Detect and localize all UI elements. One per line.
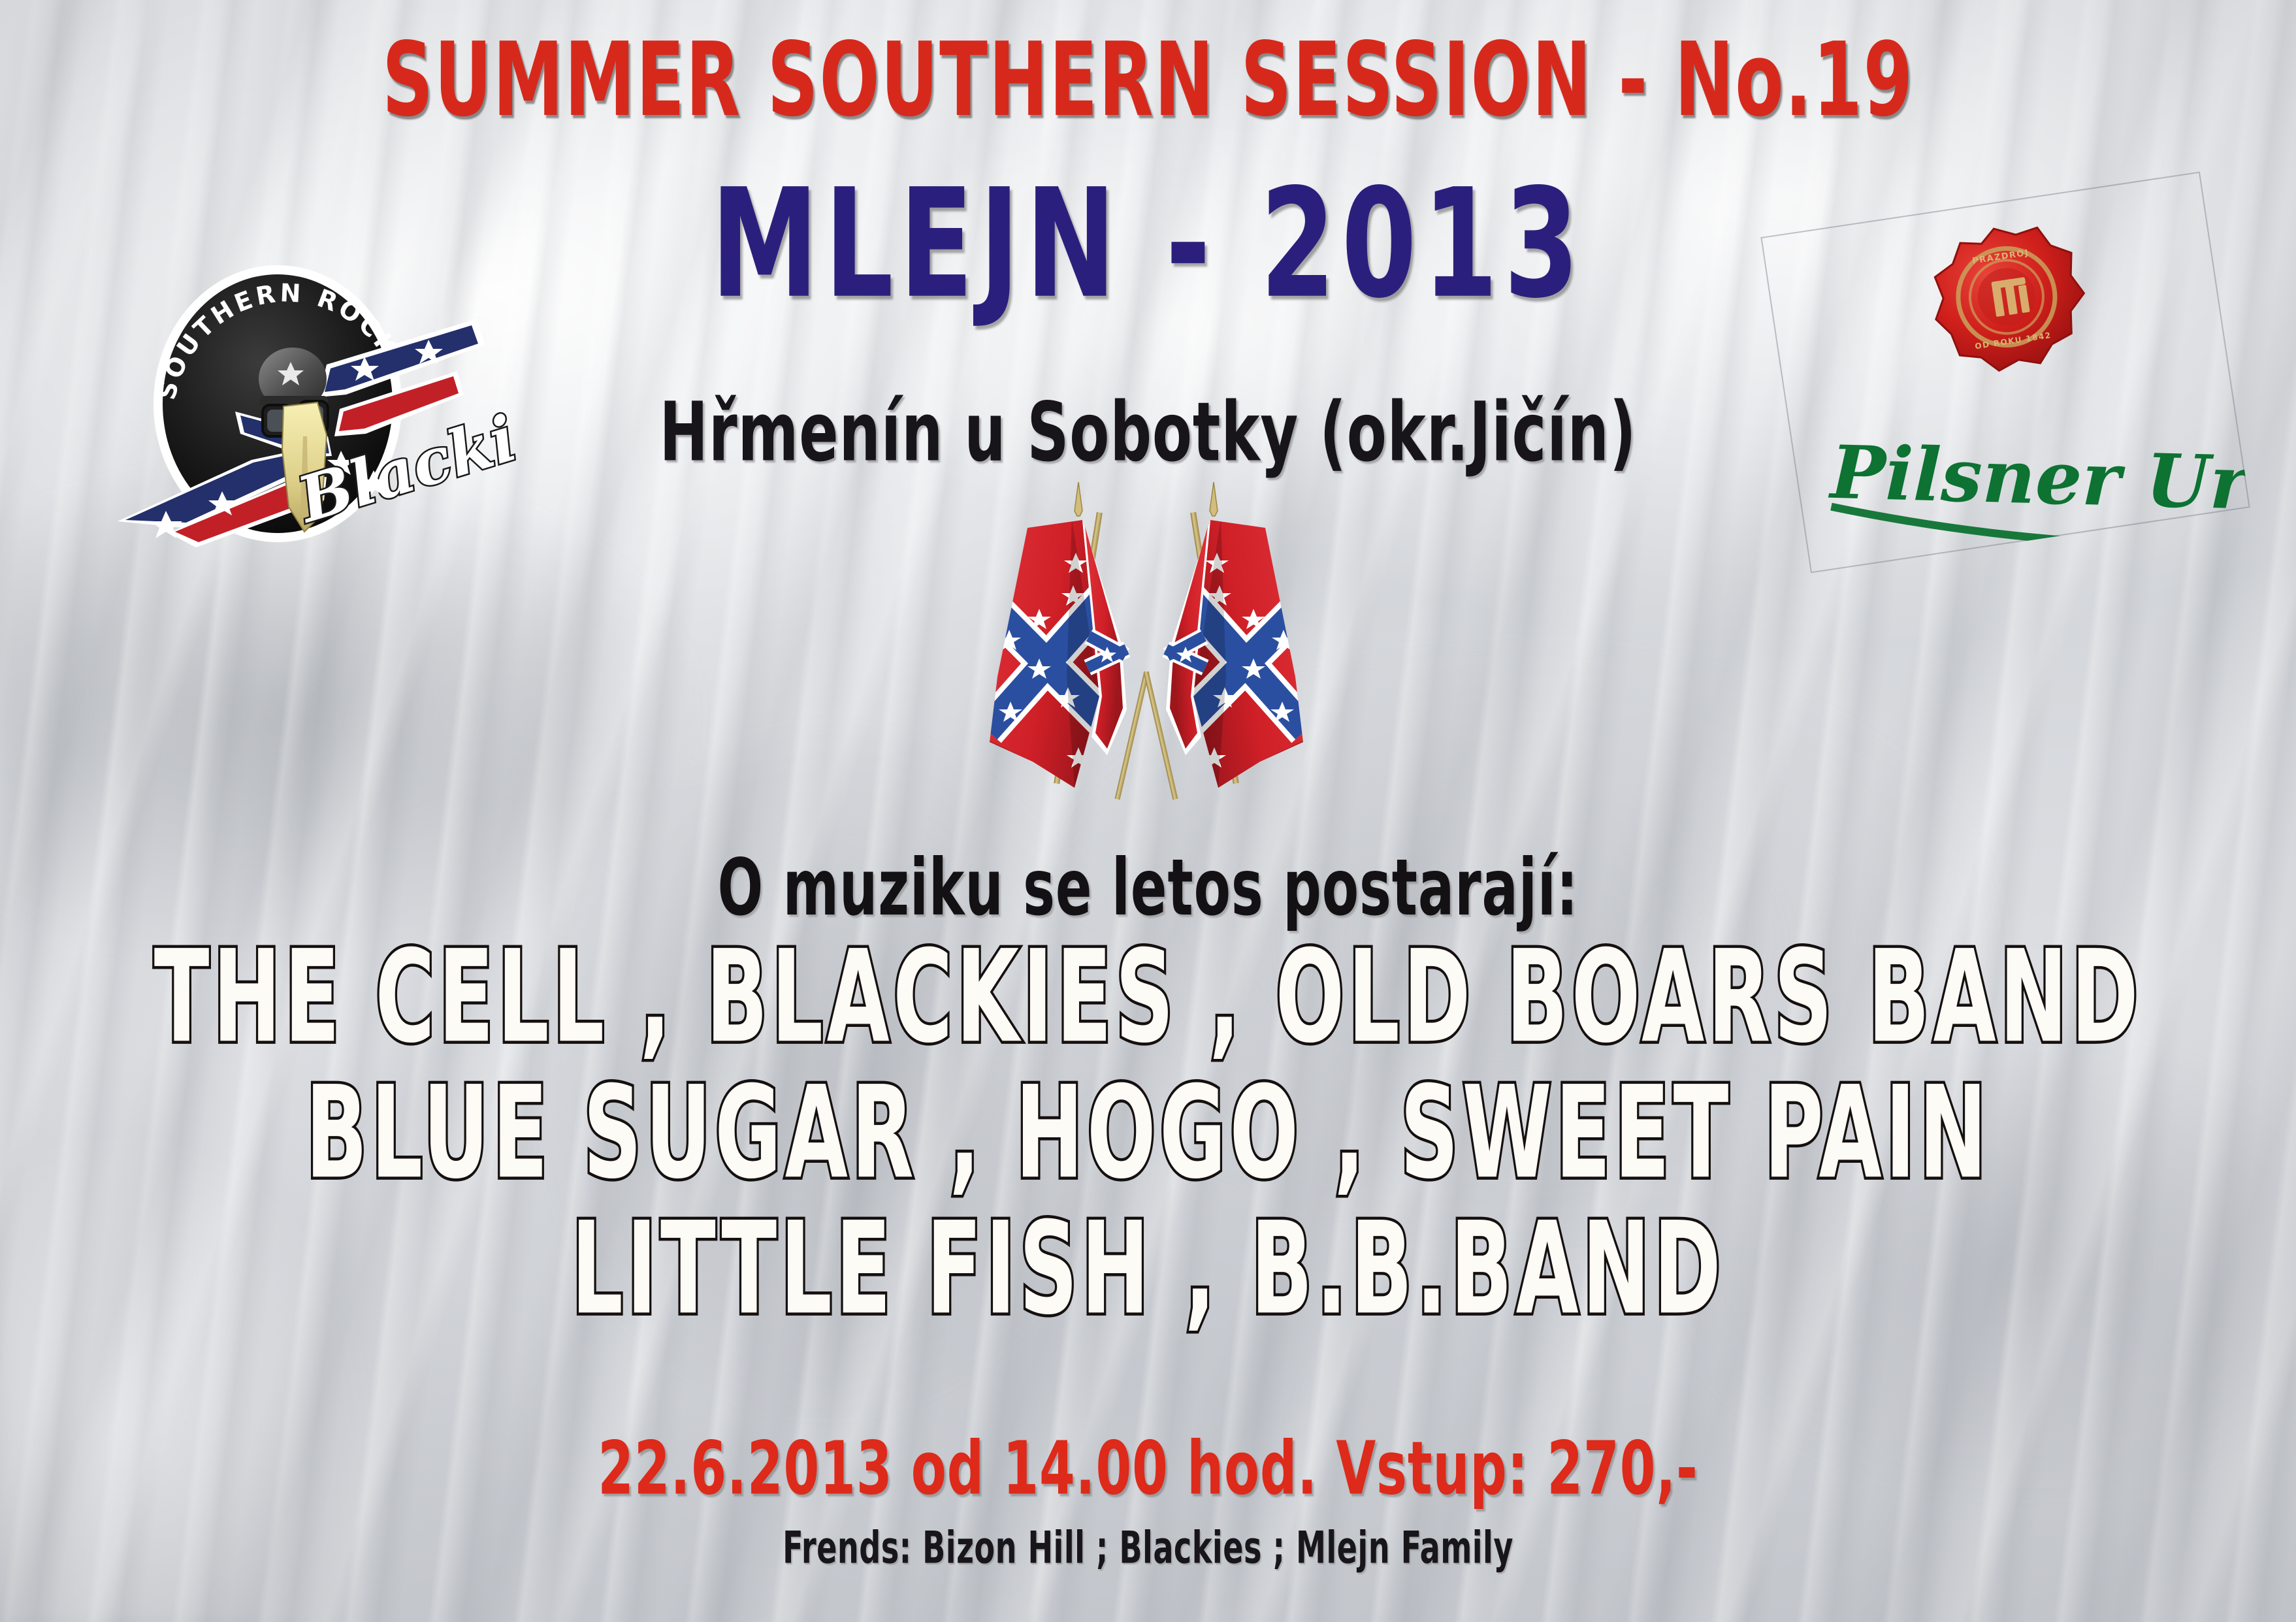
spear-tip-right (1210, 482, 1218, 516)
blackies-band-logo: SOUTHERN ROCK BAND (111, 240, 516, 567)
pilsner-urquell-logo: PRAZDROJ OD ROKU 1842 Pilsner Urquell (1760, 172, 2250, 574)
crossed-southern-flags (911, 481, 1382, 834)
lineup-line-2: BLUE SUGAR , HOGO , SWEET PAIN (92, 1070, 2205, 1197)
lineup-line-1: THE CELL , BLACKIES , OLD BOARS BAND (92, 934, 2205, 1062)
date-time-price: 22.6.2013 od 14.00 hod. Vstup: 270,- (57, 1426, 2239, 1512)
poster-canvas: SUMMER SOUTHERN SESSION - No.19 MLEJN - … (0, 0, 2296, 1622)
spear-tip-left (1075, 482, 1082, 516)
friends-credits: Frends: Bizon Hill ; Blackies ; Mlejn Fa… (57, 1522, 2239, 1574)
poster-headline: SUMMER SOUTHERN SESSION - No.19 (69, 21, 2227, 140)
lineup-line-3: LITTLE FISH , B.B.BAND (92, 1206, 2205, 1333)
flag-right (1166, 513, 1310, 801)
flag-left (983, 513, 1127, 801)
lineup-intro: O muziku se letos postarají: (80, 843, 2216, 933)
wax-seal-icon: PRAZDROJ OD ROKU 1842 (1924, 217, 2094, 379)
lineup-list: THE CELL , BLACKIES , OLD BOARS BAND BLU… (0, 949, 2296, 1356)
